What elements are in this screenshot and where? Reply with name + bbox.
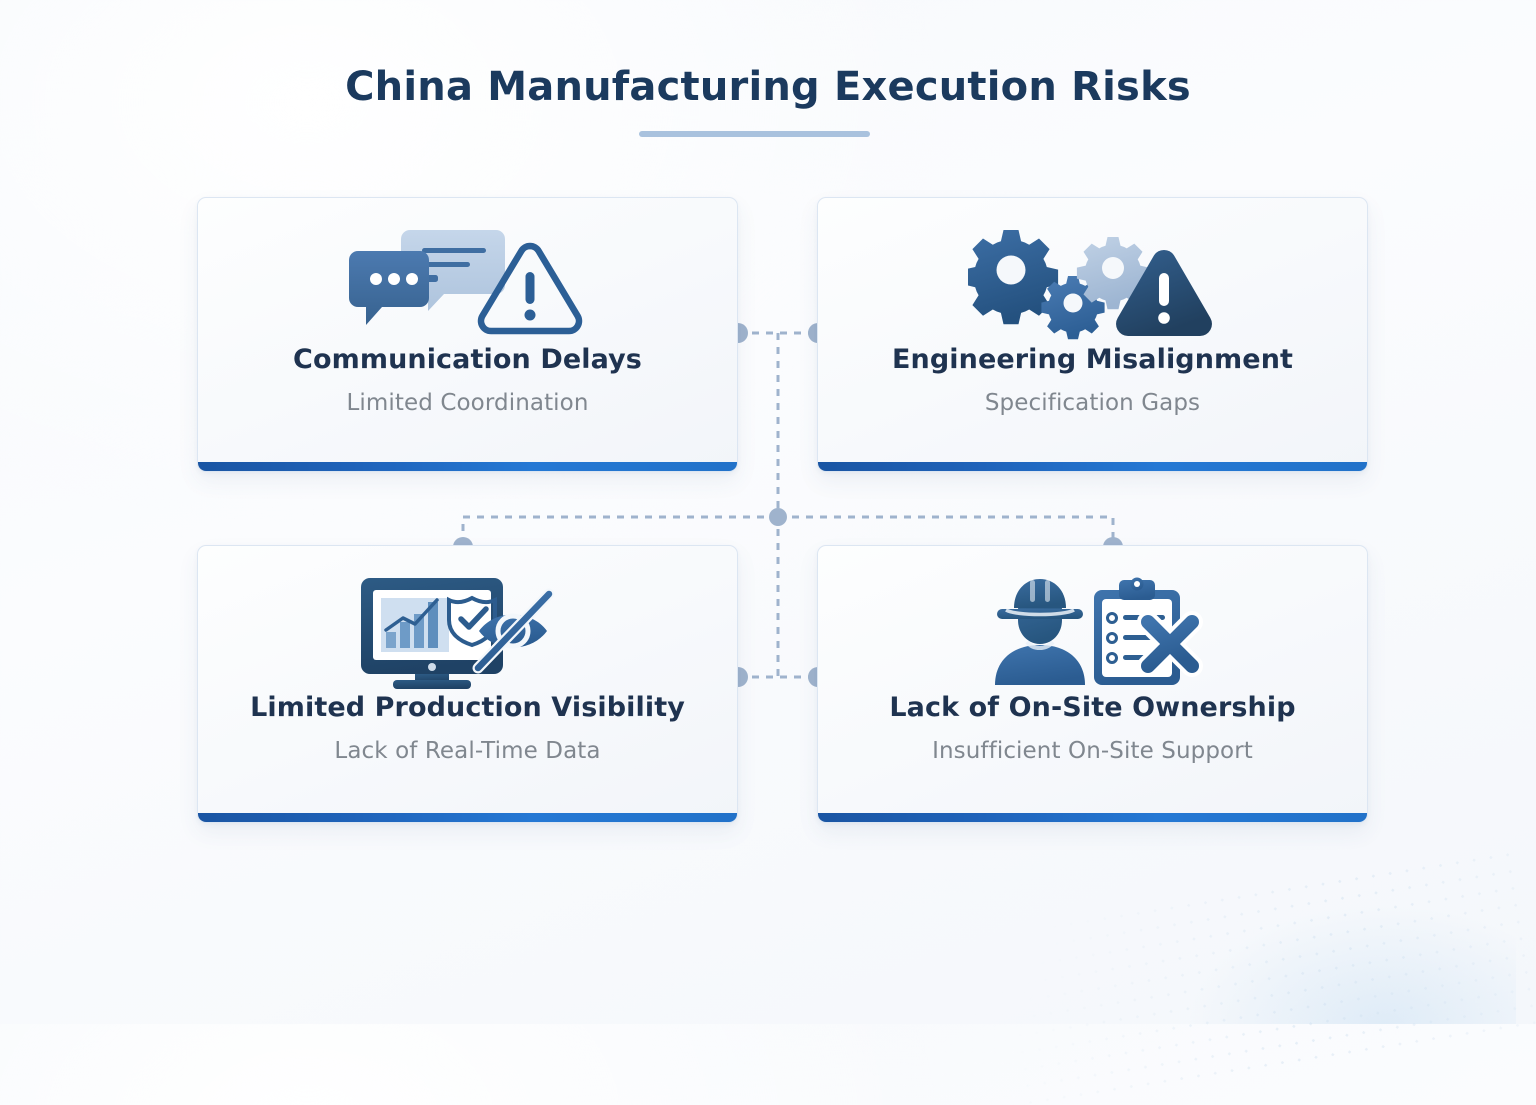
- background-dot-texture: [994, 846, 1536, 1105]
- risk-card-limited-production-visibility[interactable]: Limited Production Visibility Lack of Re…: [197, 545, 738, 823]
- title-underline-rule: [639, 131, 870, 137]
- page-title: China Manufacturing Execution Risks: [0, 64, 1536, 110]
- card-accent-bar: [818, 813, 1367, 822]
- chat-bubbles-warning-icon: [198, 224, 737, 342]
- bar-chart-icon: [381, 598, 449, 652]
- risk-card-title: Engineering Misalignment: [818, 344, 1367, 375]
- risk-card-subtitle: Limited Coordination: [198, 390, 737, 416]
- card-accent-bar: [198, 813, 737, 822]
- risk-card-title: Limited Production Visibility: [198, 692, 737, 723]
- risk-card-engineering-misalignment[interactable]: Engineering Misalignment Specification G…: [817, 197, 1368, 472]
- card-accent-bar: [198, 462, 737, 471]
- connector-hub-to-bottom-right: [778, 517, 1113, 547]
- risk-card-communication-delays[interactable]: Communication Delays Limited Coordinatio…: [197, 197, 738, 472]
- connector-diagram: [0, 0, 1536, 1024]
- risk-card-title: Communication Delays: [198, 344, 737, 375]
- chat-bubble-dark: [349, 251, 429, 325]
- worker-hardhat-icon: [995, 579, 1085, 685]
- connector-hub-to-bottom-left: [463, 517, 778, 547]
- risk-card-subtitle: Specification Gaps: [818, 390, 1367, 416]
- x-mark-icon: [1148, 622, 1192, 666]
- worker-clipboard-x-icon: [818, 572, 1367, 690]
- risk-card-subtitle: Insufficient On-Site Support: [818, 738, 1367, 764]
- gears-warning-icon: [818, 224, 1367, 342]
- card-accent-bar: [818, 462, 1367, 471]
- monitor-hidden-eye-icon: [198, 572, 737, 690]
- risk-card-title: Lack of On-Site Ownership: [818, 692, 1367, 723]
- background-glow: [1186, 904, 1516, 1024]
- risk-card-subtitle: Lack of Real-Time Data: [198, 738, 737, 764]
- connector-node-hub: [769, 508, 787, 526]
- risk-card-lack-of-onsite-ownership[interactable]: Lack of On-Site Ownership Insufficient O…: [817, 545, 1368, 823]
